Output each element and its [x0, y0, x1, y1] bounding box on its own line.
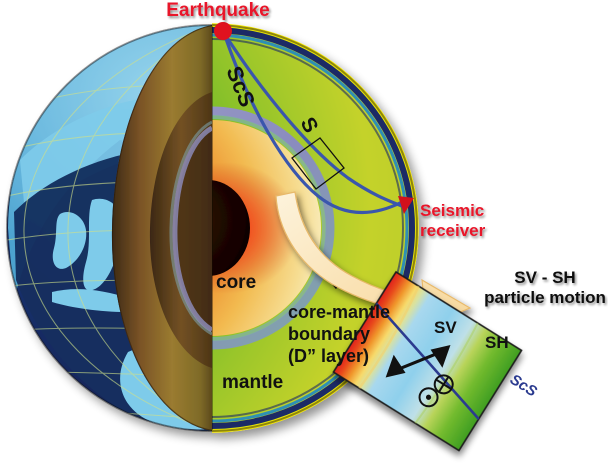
- cmb-label-line2: boundary: [288, 324, 370, 344]
- inset-scs-label: ScS: [507, 371, 540, 400]
- diagram-canvas: Earthquake Seismic receiver ScS S core m…: [0, 0, 608, 465]
- seismic-receiver-label-line2: receiver: [420, 221, 486, 240]
- inset-title-line2: particle motion: [484, 288, 606, 307]
- earthquake-marker-icon: [214, 22, 232, 40]
- cmb-label-line1: core-mantle: [288, 302, 390, 322]
- sh-label: SH: [485, 333, 509, 352]
- earthquake-label: Earthquake: [166, 0, 269, 21]
- sv-label: SV: [434, 318, 457, 337]
- cmb-label-line3: (D” layer): [288, 346, 369, 366]
- core-label: core: [216, 272, 256, 293]
- mantle-label: mantle: [222, 372, 283, 393]
- seismic-diagram-figure: Earthquake Seismic receiver ScS S core m…: [0, 0, 608, 465]
- inset-title-line1: SV - SH: [514, 268, 575, 287]
- seismic-receiver-label-line1: Seismic: [420, 201, 484, 220]
